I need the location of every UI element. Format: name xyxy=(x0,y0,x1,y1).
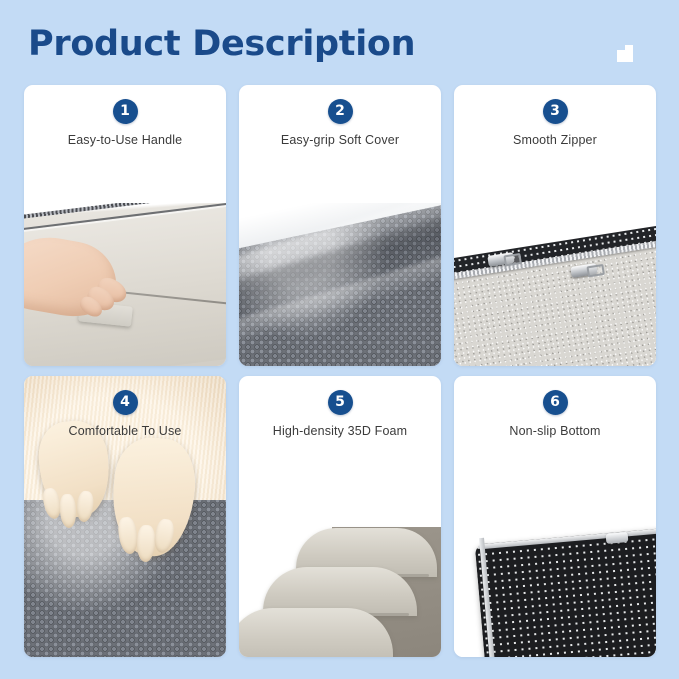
feature-label-6: Non-slip Bottom xyxy=(454,424,656,438)
feature-label-4: Comfortable To Use xyxy=(24,424,226,438)
feature-label-5: High-density 35D Foam xyxy=(239,424,441,438)
feature-card-1[interactable]: 1 Easy-to-Use Handle xyxy=(24,85,226,366)
black-dotted-nonslip-bottom-photo xyxy=(454,494,656,657)
feature-badge-4: 4 xyxy=(113,390,138,415)
feature-badge-5: 5 xyxy=(328,390,353,415)
feature-card-4[interactable]: 4 Comfortable To Use xyxy=(24,376,226,657)
feature-badge-2: 2 xyxy=(328,99,353,124)
feature-label-3: Smooth Zipper xyxy=(454,133,656,147)
feature-card-1-head: 1 Easy-to-Use Handle xyxy=(24,85,226,147)
silver-zipper-photo xyxy=(454,203,656,366)
feature-label-1: Easy-to-Use Handle xyxy=(24,133,226,147)
page-title: Product Description xyxy=(28,24,415,64)
foam-pet-stairs-photo xyxy=(239,494,441,657)
feature-card-6-head: 6 Non-slip Bottom xyxy=(454,376,656,438)
feature-card-2[interactable]: 2 Easy-grip Soft Cover xyxy=(239,85,441,366)
feature-card-grid: 1 Easy-to-Use Handle 2 Easy-grip Soft Co… xyxy=(24,85,656,657)
page-header: Product Description xyxy=(0,0,679,80)
feature-badge-3: 3 xyxy=(543,99,568,124)
product-description-page: Product Description xyxy=(0,0,679,679)
feature-badge-6: 6 xyxy=(543,390,568,415)
feature-card-3[interactable]: 3 Smooth Zipper xyxy=(454,85,656,366)
feature-card-6[interactable]: 6 Non-slip Bottom xyxy=(454,376,656,657)
feature-card-2-head: 2 Easy-grip Soft Cover xyxy=(239,85,441,147)
feature-card-4-head: 4 Comfortable To Use xyxy=(24,376,226,438)
stair-step-icon xyxy=(615,42,641,62)
hand-pulling-handle-photo xyxy=(24,203,226,366)
gray-chenille-fabric-photo xyxy=(239,203,441,366)
feature-card-3-head: 3 Smooth Zipper xyxy=(454,85,656,147)
feature-label-2: Easy-grip Soft Cover xyxy=(239,133,441,147)
feature-card-5[interactable]: 5 High-density 35D Foam xyxy=(239,376,441,657)
feature-card-5-head: 5 High-density 35D Foam xyxy=(239,376,441,438)
feature-badge-1: 1 xyxy=(113,99,138,124)
